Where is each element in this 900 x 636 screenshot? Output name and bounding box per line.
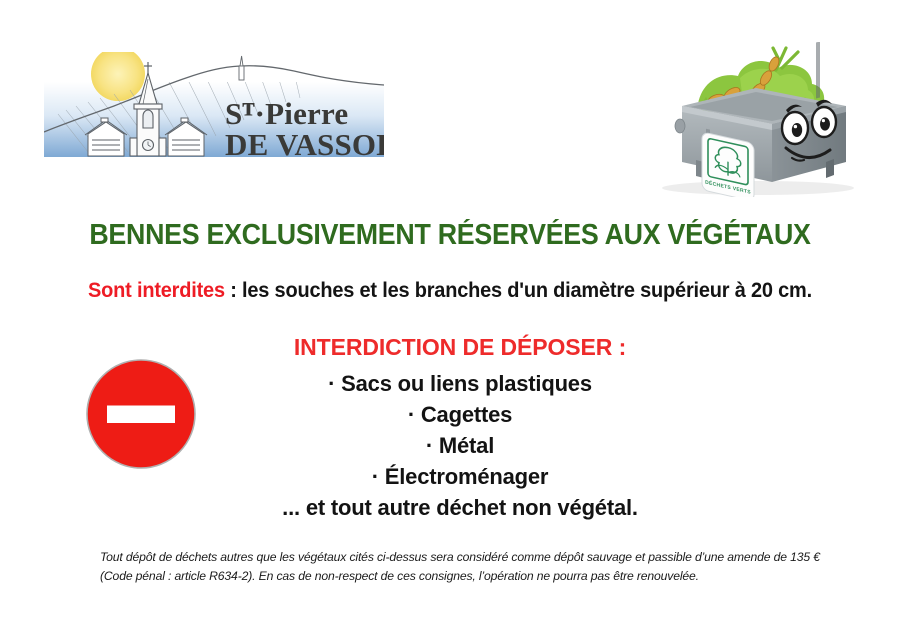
- no-entry-icon: [85, 358, 197, 470]
- prohibition-item: · Électroménager: [215, 461, 705, 492]
- header-zone: Sᵀ·Pierre DE VASSOLS: [0, 0, 900, 205]
- prohibition-block: INTERDICTION DE DÉPOSER : · Sacs ou lien…: [215, 336, 705, 523]
- prohibition-closing: ... et tout autre déchet non végétal.: [215, 492, 705, 523]
- page-title: BENNES EXCLUSIVEMENT RÉSERVÉES AUX VÉGÉT…: [27, 219, 873, 252]
- forbidden-highlight: Sont interdites: [88, 279, 225, 302]
- poster-canvas: Sᵀ·Pierre DE VASSOLS: [0, 0, 900, 636]
- logo-line1-text: Sᵀ·Pierre: [225, 96, 348, 131]
- prohibition-item: · Cagettes: [215, 399, 705, 430]
- legal-footnote: Tout dépôt de déchets autres que les vég…: [100, 548, 830, 586]
- forbidden-rest: : les souches et les branches d'un diamè…: [225, 279, 812, 302]
- prohibition-title: INTERDICTION DE DÉPOSER :: [215, 336, 705, 359]
- dumpster-label: DÉCHETS VERTS: [702, 132, 754, 197]
- logo-line2-text: DE VASSOLS: [225, 127, 384, 162]
- prohibition-item: · Sacs ou liens plastiques: [215, 368, 705, 399]
- town-logo: Sᵀ·Pierre DE VASSOLS: [44, 52, 384, 172]
- forbidden-items-line: Sont interdites : les souches et les bra…: [23, 279, 878, 303]
- prohibition-item: · Métal: [215, 430, 705, 461]
- dumpster-mascot-illustration: DÉCHETS VERTS: [640, 42, 870, 197]
